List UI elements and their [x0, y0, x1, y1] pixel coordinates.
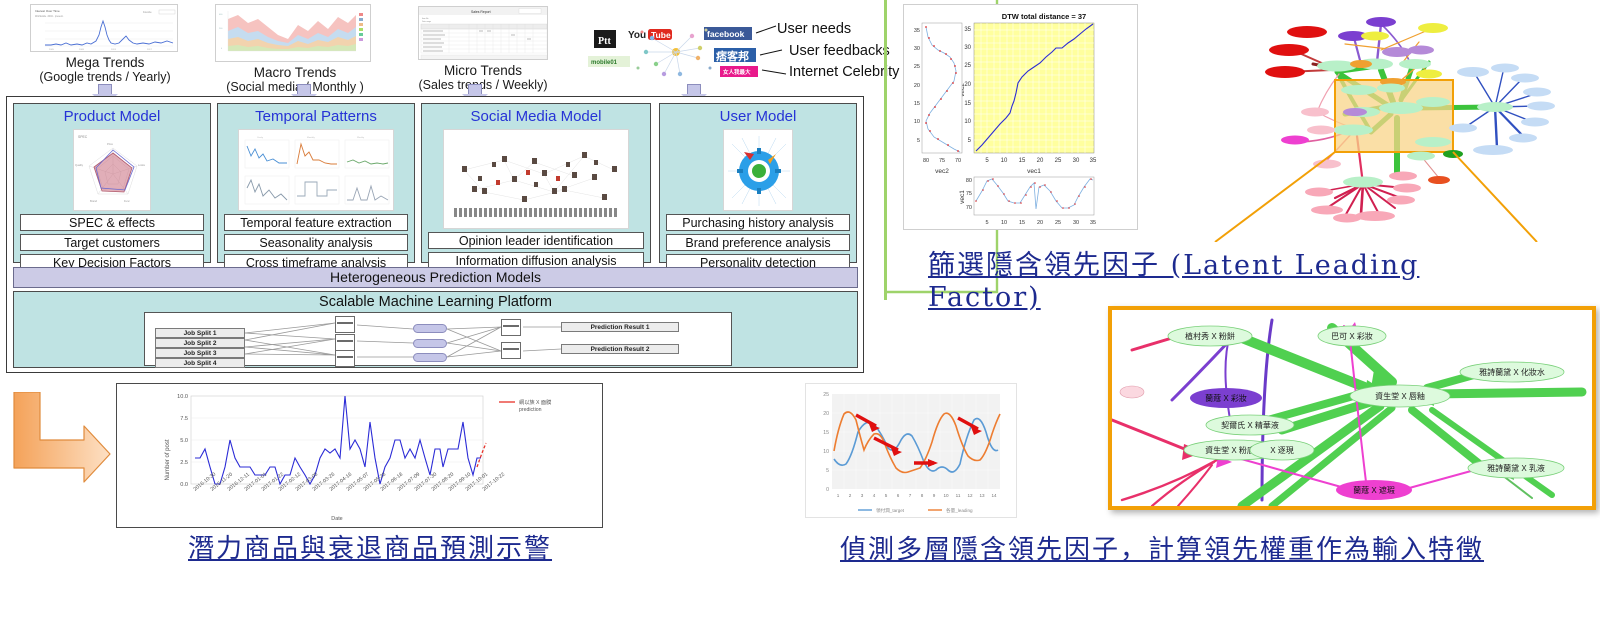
svg-text:資生堂 X 唇釉: 資生堂 X 唇釉: [1375, 391, 1425, 401]
svg-text:30: 30: [1073, 158, 1080, 164]
model-item[interactable]: Target customers: [20, 234, 204, 251]
svg-text:vec1: vec1: [1027, 168, 1041, 175]
svg-text:SPEC: SPEC: [78, 135, 88, 139]
svg-text:80: 80: [923, 158, 929, 164]
svg-text:prediction: prediction: [519, 407, 542, 413]
svg-text:契爾氏 X 精華液: 契爾氏 X 精華液: [1221, 420, 1279, 430]
model-item[interactable]: Seasonality analysis: [224, 234, 408, 251]
svg-text:4: 4: [873, 493, 876, 498]
model-item[interactable]: Brand preference analysis: [666, 234, 850, 251]
reducer-node: [501, 319, 521, 336]
svg-text:mobile01: mobile01: [591, 60, 618, 66]
svg-text:10: 10: [1001, 220, 1007, 226]
scalable-ml-platform: Scalable Machine Learning Platform Job S…: [13, 291, 858, 368]
svg-text:6: 6: [897, 493, 900, 498]
svg-text:2.5: 2.5: [180, 460, 188, 466]
small-multiples-thumbnail: YearlyMonthlyWeekly: [238, 129, 394, 211]
svg-text:15: 15: [1019, 220, 1025, 226]
svg-text:Price: Price: [107, 142, 113, 146]
svg-text:vec2: vec2: [935, 168, 949, 175]
svg-text:2005: 2005: [49, 49, 55, 51]
svg-text:20: 20: [1037, 158, 1044, 164]
svg-text:Brand: Brand: [90, 199, 97, 203]
model-column-temporal: Temporal Patterns YearlyMonthlyWeekly Te…: [217, 103, 415, 263]
platform-title: Scalable Machine Learning Platform: [14, 294, 857, 310]
svg-text:80: 80: [966, 178, 972, 184]
worker-node: [335, 350, 355, 367]
svg-text:巴可 X 彩妝: 巴可 X 彩妝: [1331, 331, 1373, 341]
svg-text:70: 70: [955, 158, 961, 164]
annotation-internet-celebrity: Internet Celebrity: [789, 64, 899, 80]
svg-text:14: 14: [991, 493, 997, 498]
svg-text:30: 30: [914, 46, 920, 52]
dtw-alignment-panel: DTW total distance = 37 510: [903, 4, 1138, 230]
svg-text:35: 35: [914, 28, 920, 34]
model-item[interactable]: SPEC & effects: [20, 214, 204, 231]
svg-text:35: 35: [964, 27, 971, 33]
svg-text:植村秀 X 粉餅: 植村秀 X 粉餅: [1185, 331, 1235, 341]
svg-text:8: 8: [921, 493, 924, 498]
svg-text:10: 10: [1001, 158, 1008, 164]
svg-text:5: 5: [826, 468, 829, 474]
svg-text:10: 10: [823, 449, 829, 455]
svg-text:蘭蔻 X 遮瑕: 蘭蔻 X 遮瑕: [1353, 485, 1395, 495]
svg-text:7.5: 7.5: [180, 416, 188, 422]
model-column-social: Social Media Model: [421, 103, 651, 263]
svg-text:痞客邦: 痞客邦: [716, 49, 749, 63]
svg-text:vec1: vec1: [959, 190, 966, 204]
svg-text:Looks: Looks: [138, 163, 146, 167]
svg-text:10: 10: [964, 119, 971, 125]
svg-text:25: 25: [823, 392, 829, 398]
stacked-area-chart-thumbnail: 4002000 2015-012015-062016-01 2016-06201…: [215, 4, 371, 62]
svg-text:30: 30: [1073, 220, 1079, 226]
svg-text:25: 25: [964, 63, 971, 69]
svg-text:10: 10: [943, 493, 949, 498]
network-zoom-detail-panel: 植村秀 X 粉餅 巴可 X 彩妝 雅詩蘭黛 X 化妝水 資生堂 X 唇釉 蘭蔻 …: [1108, 306, 1596, 510]
svg-text:0: 0: [826, 487, 829, 493]
leading-factor-alignment-chart: 252015 1050 123 456 789 101112 1314 領付潤_…: [805, 383, 1017, 518]
svg-text:30: 30: [964, 45, 971, 51]
caption-latent-leading-factor: 篩選隱含領先因子 (Latent Leading Factor): [928, 250, 1488, 314]
model-item[interactable]: Purchasing history analysis: [666, 214, 850, 231]
svg-text:各量_leading: 各量_leading: [946, 507, 973, 514]
svg-text:Ptt: Ptt: [598, 36, 611, 47]
caption-forecast: 潛力商品與衰退商品預測示警: [188, 528, 552, 565]
job-split-item[interactable]: Job Split 1: [155, 328, 245, 338]
svg-text:10: 10: [914, 119, 920, 125]
caption-multi-layer-leading-factor: 偵測多層隱含領先因子，計算領先權重作為輸入特徵: [840, 532, 1530, 568]
heterogeneous-prediction-models-band: Heterogeneous Prediction Models: [13, 267, 858, 288]
source-title: Mega Trends: [30, 55, 180, 70]
flow-arrow-to-forecast: [6, 392, 114, 484]
spreadsheet-table-thumbnail: Sales Report Item No.Date range: [418, 6, 548, 60]
svg-text:雅詩蘭黛 X 化妝水: 雅詩蘭黛 X 化妝水: [1479, 367, 1545, 377]
svg-text:2: 2: [849, 493, 852, 498]
line-chart-thumbnail: Interest Over Time Worldwide. 2004 - pre…: [30, 4, 178, 52]
svg-text:15: 15: [964, 101, 971, 107]
svg-text:25: 25: [1055, 220, 1061, 226]
svg-text:0.0: 0.0: [180, 482, 188, 488]
model-capsule: [413, 324, 447, 333]
svg-text:75: 75: [966, 191, 972, 197]
svg-text:20: 20: [1037, 220, 1043, 226]
svg-text:facebook: facebook: [707, 29, 745, 39]
svg-text:Worldwide. 2004 - present.: Worldwide. 2004 - present.: [35, 15, 64, 18]
svg-text:2013: 2013: [111, 49, 117, 51]
svg-text:Favorite: Favorite: [143, 11, 152, 14]
model-title: Social Media Model: [422, 108, 650, 125]
svg-text:5: 5: [985, 220, 988, 226]
reducer-node: [501, 342, 521, 359]
svg-text:75: 75: [939, 158, 945, 164]
model-column-product: Product Model SPEC PriceLooksFunc BrandQ: [13, 103, 211, 263]
source-macro-trends: 4002000 2015-012015-062016-01 2016-06201…: [215, 4, 375, 94]
svg-text:Quality: Quality: [75, 163, 84, 167]
worker-node: [335, 316, 355, 333]
svg-text:13: 13: [979, 493, 985, 498]
user-gear-thumbnail: [723, 129, 793, 211]
svg-text:雅詩蘭黛 X 乳液: 雅詩蘭黛 X 乳液: [1487, 463, 1545, 473]
svg-text:2017: 2017: [147, 49, 153, 51]
svg-text:Date: Date: [331, 516, 342, 522]
svg-text:12: 12: [967, 493, 973, 498]
svg-text:35: 35: [1090, 220, 1096, 226]
social-network-thumbnail: [443, 129, 629, 229]
svg-text:Weekly: Weekly: [357, 137, 365, 139]
svg-text:3: 3: [861, 493, 864, 498]
svg-text:7: 7: [909, 493, 912, 498]
job-split-item[interactable]: Job Split 3: [155, 348, 245, 358]
svg-text:2009: 2009: [79, 49, 85, 51]
svg-text:5: 5: [885, 493, 888, 498]
svg-text:X 逐現: X 逐現: [1270, 446, 1294, 455]
svg-text:25: 25: [914, 64, 920, 70]
model-title: User Model: [660, 108, 856, 125]
architecture-frame: Product Model SPEC PriceLooksFunc BrandQ: [6, 96, 864, 373]
annotation-user-feedbacks: User feedbacks: [789, 43, 890, 59]
svg-text:Item No.: Item No.: [422, 17, 429, 20]
leading-factor-network-graph: [1185, 2, 1595, 242]
svg-text:10.0: 10.0: [177, 394, 188, 400]
svg-text:20: 20: [823, 411, 829, 417]
source-subtitle: (Google trends / Yearly): [30, 70, 180, 84]
forecast-chart: 10.07.55.0 2.50.0 Number of post 網以族 X 面…: [155, 390, 596, 521]
svg-text:5.0: 5.0: [180, 438, 188, 444]
annotation-user-needs: User needs: [777, 21, 851, 37]
model-capsule: [413, 353, 447, 362]
svg-text:70: 70: [966, 205, 972, 211]
platform-pipeline-diagram: Job Split 1 Job Split 2 Job Split 3 Job …: [144, 312, 732, 366]
svg-text:25: 25: [1055, 158, 1062, 164]
model-capsule: [413, 339, 447, 348]
svg-text:Sales Report: Sales Report: [471, 10, 491, 14]
svg-text:Func: Func: [124, 199, 130, 203]
svg-text:15: 15: [1019, 158, 1026, 164]
svg-text:Yearly: Yearly: [257, 136, 264, 139]
source-title: Micro Trends: [408, 63, 558, 78]
svg-text:蘭蔻 X 彩妝: 蘭蔻 X 彩妝: [1205, 393, 1247, 403]
worker-node: [335, 334, 355, 351]
model-item[interactable]: Opinion leader identification: [428, 232, 644, 249]
svg-text:5: 5: [917, 138, 920, 144]
svg-text:11: 11: [956, 493, 961, 498]
svg-text:9: 9: [933, 493, 936, 498]
svg-text:DTW total distance = 37: DTW total distance = 37: [1002, 12, 1086, 21]
forecast-chart-panel: 10.07.55.0 2.50.0 Number of post 網以族 X 面…: [116, 383, 603, 528]
svg-text:1: 1: [837, 493, 840, 498]
prediction-result[interactable]: Prediction Result 1: [561, 322, 679, 332]
svg-text:35: 35: [1090, 158, 1097, 164]
model-item[interactable]: Temporal feature extraction: [224, 214, 408, 231]
svg-text:Monthly: Monthly: [307, 136, 316, 139]
svg-text:Interest Over Time: Interest Over Time: [35, 9, 60, 13]
radar-chart-thumbnail: SPEC PriceLooksFunc BrandQuality: [73, 129, 151, 211]
svg-text:領付潤_target: 領付潤_target: [876, 507, 905, 514]
model-column-user: User Model: [659, 103, 857, 263]
prediction-result[interactable]: Prediction Result 2: [561, 344, 679, 354]
job-split-item[interactable]: Job Split 4: [155, 358, 245, 368]
svg-text:Number of post: Number of post: [165, 439, 171, 480]
job-split-item[interactable]: Job Split 2: [155, 338, 245, 348]
svg-text:20: 20: [914, 83, 920, 89]
model-title: Temporal Patterns: [218, 108, 414, 125]
svg-text:網以族 X 面膜: 網以族 X 面膜: [519, 398, 551, 406]
svg-text:15: 15: [823, 430, 829, 436]
source-micro-trends: Sales Report Item No.Date range: [408, 6, 558, 92]
svg-text:Date range: Date range: [422, 20, 431, 23]
source-mega-trends: Interest Over Time Worldwide. 2004 - pre…: [30, 4, 180, 84]
svg-text:女人我最大: 女人我最大: [723, 68, 751, 76]
source-title: Macro Trends: [215, 65, 375, 80]
model-title: Product Model: [14, 108, 210, 125]
svg-text:15: 15: [914, 101, 920, 107]
